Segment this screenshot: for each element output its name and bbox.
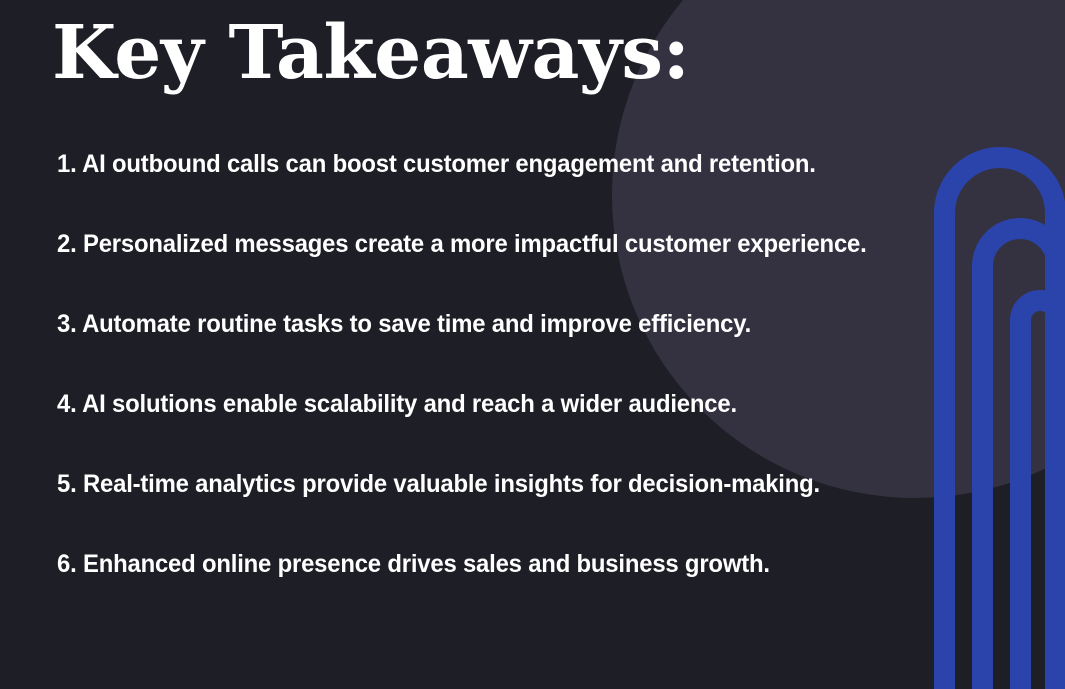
list-item: 3. Automate routine tasks to save time a… [57,309,878,389]
list-item: 1. AI outbound calls can boost customer … [57,149,878,229]
list-item: 6. Enhanced online presence drives sales… [57,549,878,629]
slide-content: Key Takeaways: 1. AI outbound calls can … [0,0,1065,689]
list-item: 5. Real-time analytics provide valuable … [57,469,878,549]
list-item: 2. Personalized messages create a more i… [57,229,878,309]
page-title: Key Takeaways: [52,14,689,92]
slide-canvas: Key Takeaways: 1. AI outbound calls can … [0,0,1065,689]
list-item: 4. AI solutions enable scalability and r… [57,389,878,469]
takeaways-list: 1. AI outbound calls can boost customer … [57,149,917,629]
